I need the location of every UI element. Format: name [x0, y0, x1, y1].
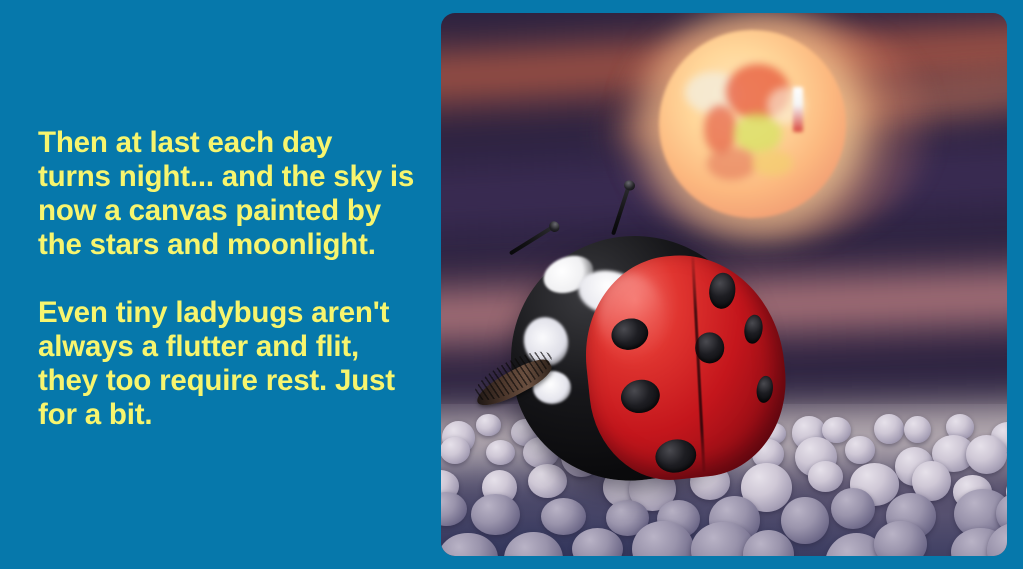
- ladybug-spot: [755, 375, 774, 404]
- ladybug-photo: [441, 13, 1007, 556]
- ladybug-spot: [707, 271, 736, 309]
- moon-crater: [752, 150, 793, 176]
- ladybug: [492, 219, 809, 491]
- poem-stanza-1: Then at last each day turns night... and…: [38, 126, 420, 262]
- slide: Then at last each day turns night... and…: [0, 0, 1023, 569]
- poem-text-column: Then at last each day turns night... and…: [38, 126, 420, 432]
- ladybug-spot: [743, 313, 765, 344]
- ladybug-antenna-left: [509, 224, 555, 255]
- ladybug-spot: [695, 332, 724, 363]
- moon: [659, 30, 846, 217]
- ladybug-wing-seam: [691, 258, 705, 472]
- moon-crater: [707, 147, 756, 181]
- ladybug-spot: [653, 435, 699, 475]
- photo-scene: [441, 13, 1007, 556]
- moon-streak: [793, 87, 802, 132]
- ladybug-spot: [618, 376, 663, 417]
- poem-stanza-2: Even tiny ladybugs aren't always a flutt…: [38, 296, 420, 432]
